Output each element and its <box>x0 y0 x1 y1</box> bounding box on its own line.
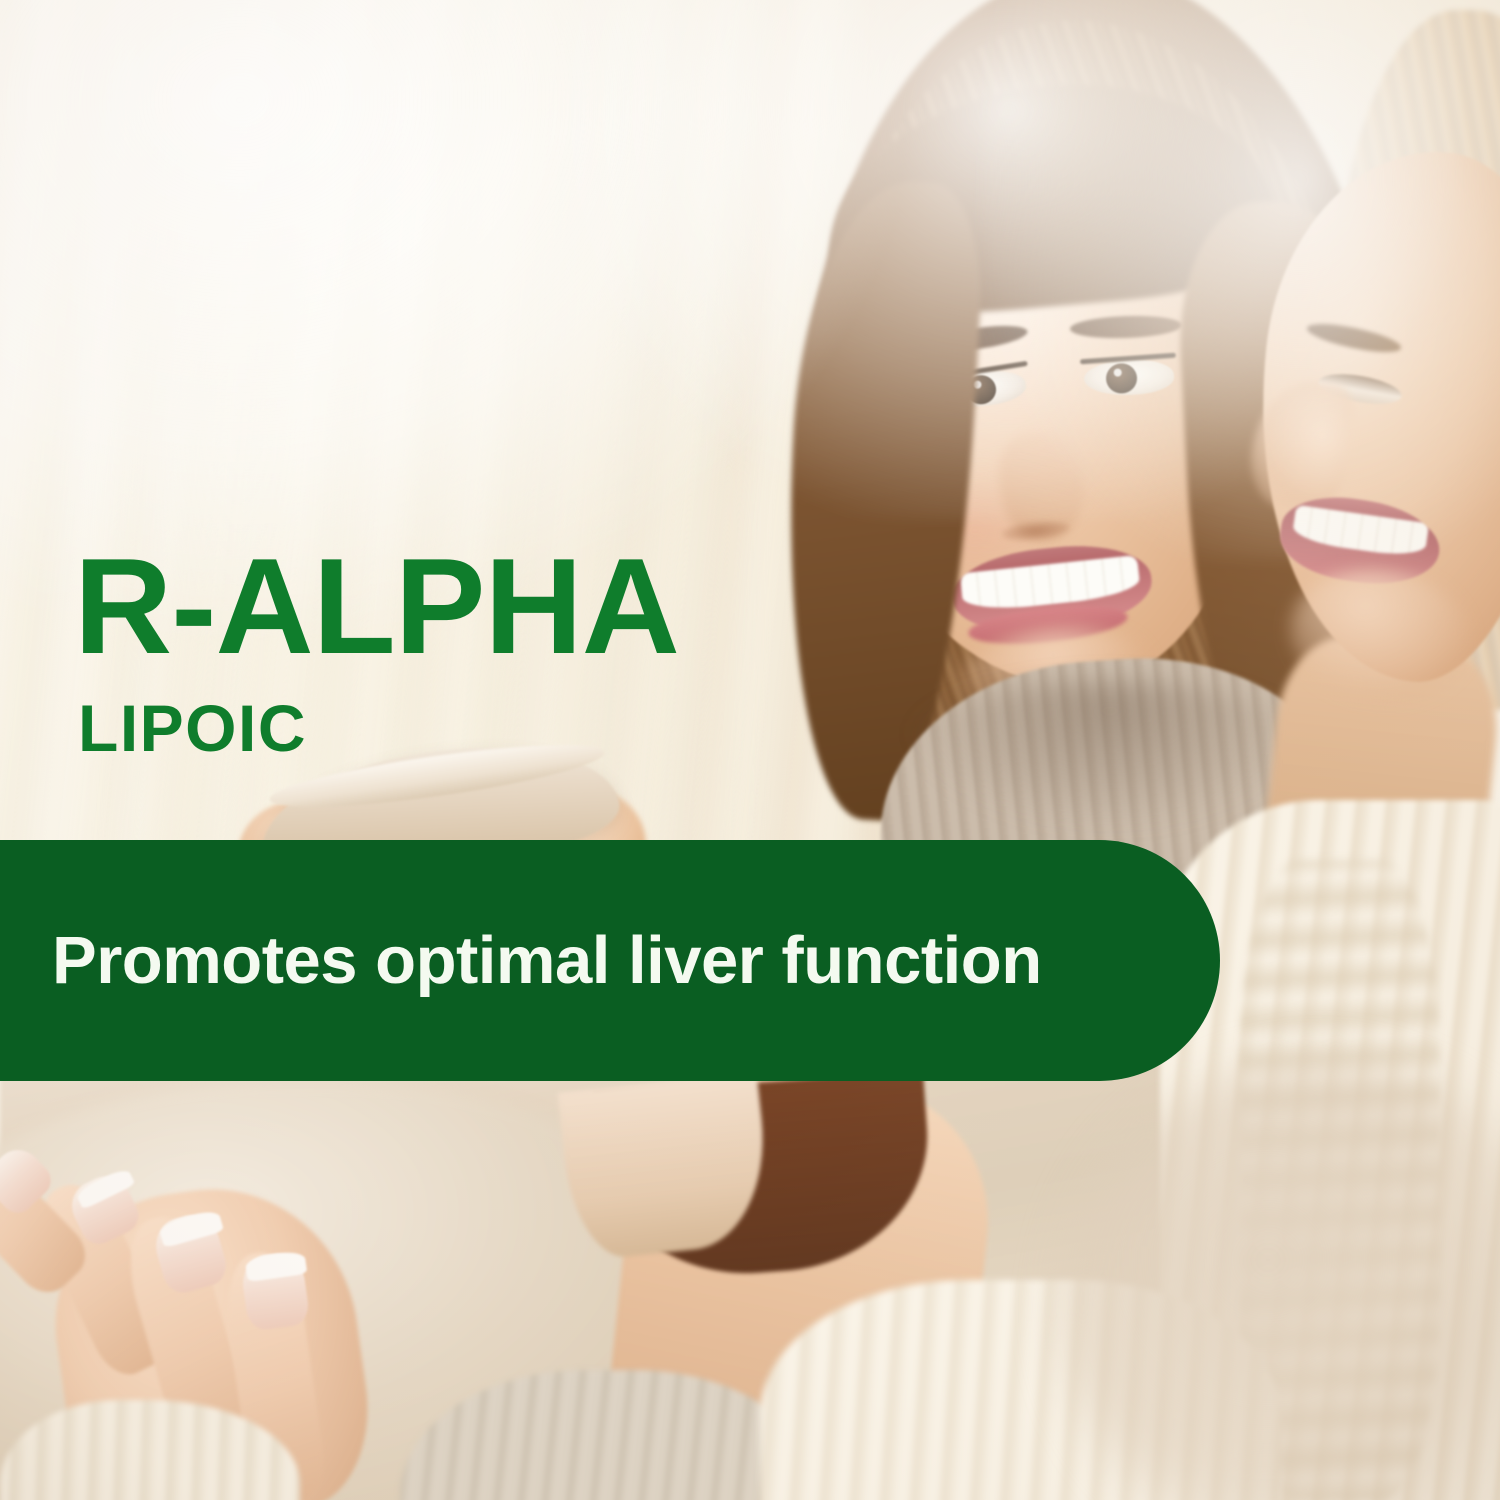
woman-front-teeth <box>960 555 1141 613</box>
product-title: R-ALPHA <box>74 540 679 673</box>
claim-text: Promotes optimal liver function <box>0 927 1042 994</box>
promotional-banner: R-ALPHA LIPOIC Promotes optimal liver fu… <box>0 0 1500 1500</box>
product-subtitle: LIPOIC <box>78 695 679 761</box>
window-light-right <box>980 0 1500 560</box>
woman-front-turtleneck-shadow <box>900 680 1320 830</box>
claim-banner: Promotes optimal liver function <box>0 840 1220 1081</box>
product-title-block: R-ALPHA LIPOIC <box>74 540 679 761</box>
